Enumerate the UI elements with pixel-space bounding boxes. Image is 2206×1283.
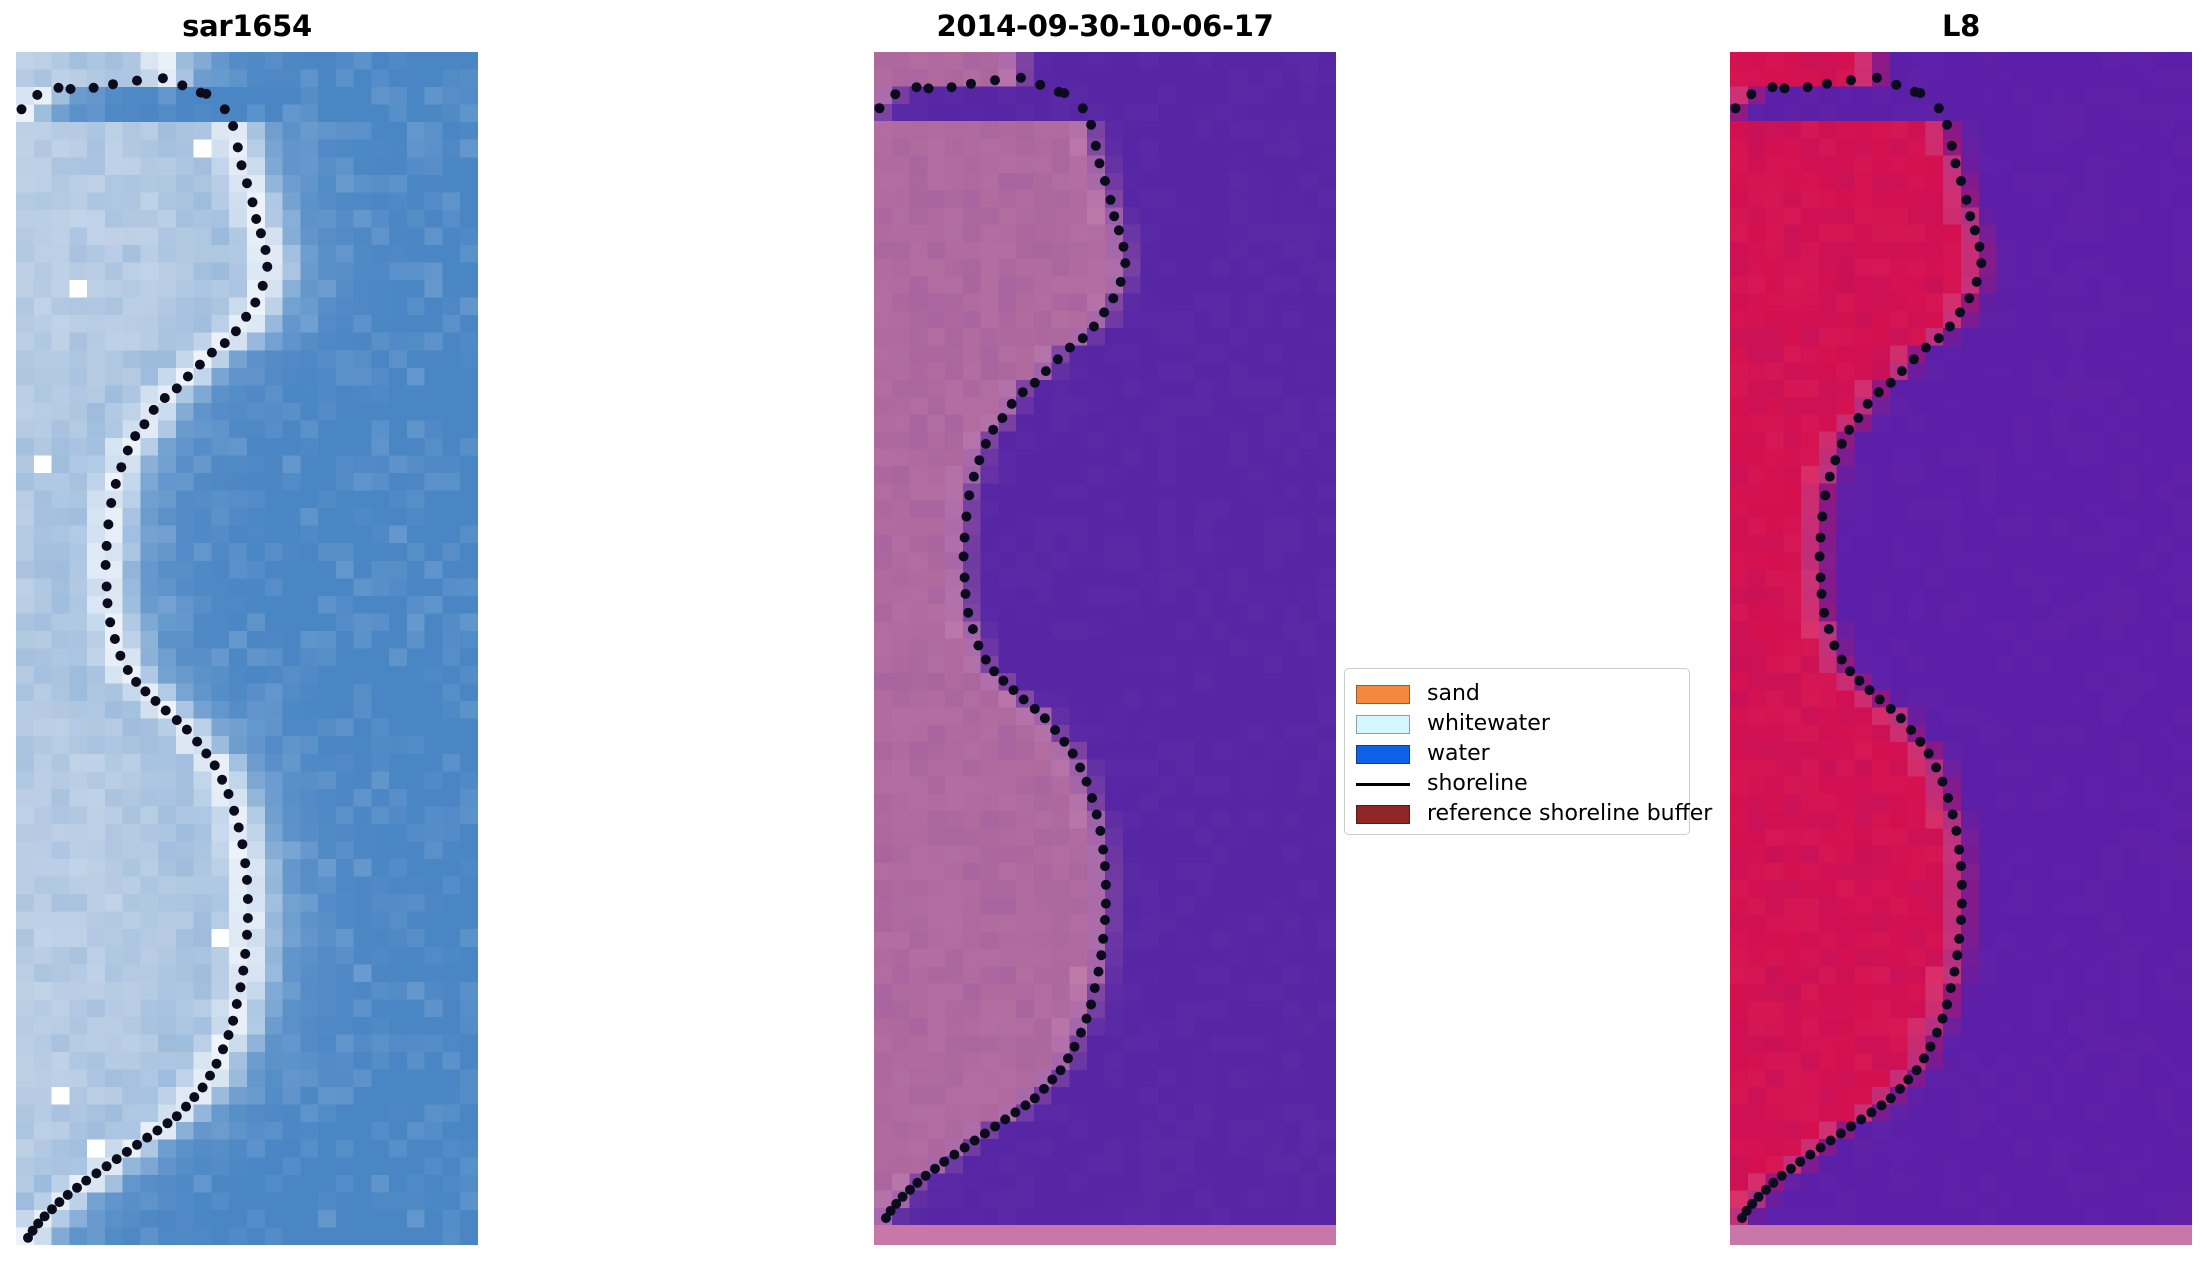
panel-sar <box>16 52 478 1245</box>
raster-sar <box>16 52 478 1245</box>
legend-label-whitewater: whitewater <box>1427 713 1550 735</box>
legend-item-sand: sand <box>1356 679 1676 709</box>
panel-rgb <box>874 52 1336 1245</box>
legend-item-whitewater: whitewater <box>1356 709 1676 739</box>
reference-shoreline-buffer-strip <box>874 1225 1336 1245</box>
legend-label-water: water <box>1427 743 1490 765</box>
legend-label-sand: sand <box>1427 683 1480 705</box>
legend-swatch-whitewater <box>1356 715 1410 734</box>
legend-swatch-reference-shoreline-buffer <box>1356 805 1410 824</box>
panel-title-rgb: 2014-09-30-10-06-17 <box>874 6 1336 46</box>
legend: sand whitewater water shoreline referenc… <box>1344 668 1690 835</box>
legend-swatch-sand <box>1356 685 1410 704</box>
legend-item-shoreline: shoreline <box>1356 769 1676 799</box>
legend-label-shoreline: shoreline <box>1427 773 1528 795</box>
legend-label-reference-shoreline-buffer: reference shoreline buffer <box>1427 803 1712 825</box>
legend-swatch-shoreline <box>1356 783 1410 786</box>
panel-title-l8: L8 <box>1730 6 2192 46</box>
raster-l8 <box>1730 52 2192 1225</box>
panel-title-sar: sar1654 <box>16 6 478 46</box>
legend-item-reference-shoreline-buffer: reference shoreline buffer <box>1356 799 1676 829</box>
panel-l8 <box>1730 52 2192 1245</box>
reference-shoreline-buffer-strip <box>1730 1225 2192 1245</box>
legend-item-water: water <box>1356 739 1676 769</box>
legend-swatch-water <box>1356 745 1410 764</box>
raster-rgb <box>874 52 1336 1225</box>
